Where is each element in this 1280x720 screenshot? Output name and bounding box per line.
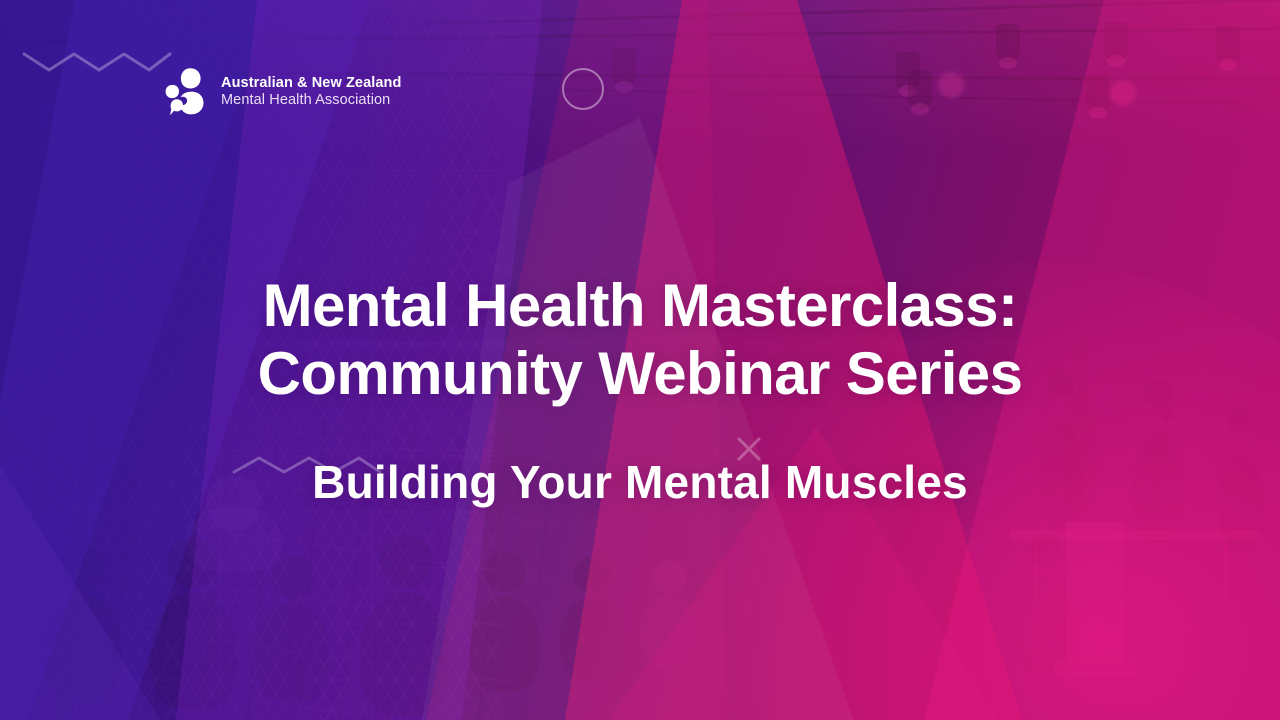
anzmh-butterfly-logo-icon [160,66,208,118]
organisation-name-line1: Australian & New Zealand [221,75,401,92]
page-title-line-1: Mental Health Masterclass: [60,272,1220,340]
headline-block: Mental Health Masterclass: Community Web… [0,272,1280,510]
circle-outline-icon [562,68,604,110]
title-slide: Australian & New Zealand Mental Health A… [0,0,1280,720]
brand-logo-lockup: Australian & New Zealand Mental Health A… [160,66,401,118]
zigzag-top-left-icon [22,48,172,74]
brand-logo-text: Australian & New Zealand Mental Health A… [221,75,401,109]
page-title-line-2: Community Webinar Series [60,340,1220,408]
organisation-name-line2: Mental Health Association [221,92,401,109]
page-subtitle: Building Your Mental Muscles [60,455,1220,510]
